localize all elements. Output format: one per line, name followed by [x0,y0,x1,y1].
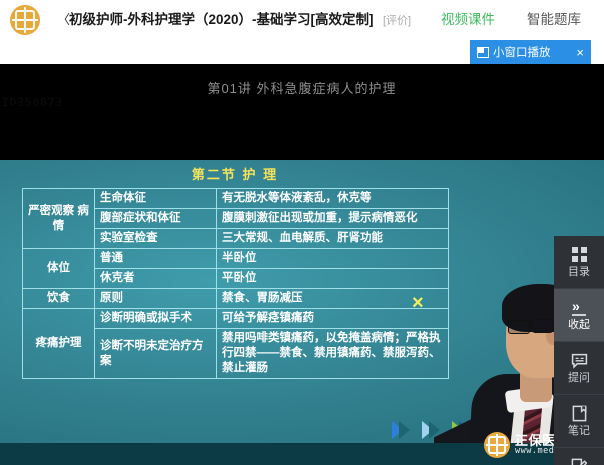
category-cell: 饮食 [23,289,95,309]
item-cell: 生命体征 [95,189,217,209]
video-id-watermark: ID350873 [2,96,63,109]
item-cell: 休克者 [95,269,217,289]
sidebar-item-feedback[interactable]: 反馈 [554,448,604,465]
slide-content: 第二节 护 理 严密观察 病情 生命体征 有无脱水等体液紊乱，休克等 腹部症状和… [0,160,604,465]
grid-icon [572,246,587,263]
item-cell: 诊断不明未定治疗方案 [95,329,217,379]
annotation-x-mark: × [412,293,432,313]
sidebar-item-collapse[interactable]: » 收起 [554,289,604,342]
table-body: 严密观察 病情 生命体征 有无脱水等体液紊乱，休克等 腹部症状和体征 腹膜刺激征… [23,189,449,379]
pip-play-button[interactable]: 小窗口播放 × [470,40,591,64]
edit-pencil-icon [571,458,587,465]
sidebar-item-catalog[interactable]: 目录 [554,236,604,289]
item-cell: 诊断明确或拟手术 [95,309,217,329]
tab-video-courseware[interactable]: 视频课件 [441,10,495,30]
table-row: 严密观察 病情 生命体征 有无脱水等体液紊乱，休克等 [23,189,449,209]
page-header: 〈 初级护师-外科护理学（2020）-基础学习[高效定制] [评价] 视频课件 … [0,0,604,40]
value-cell: 半卧位 [217,249,449,269]
value-cell: 平卧位 [217,269,449,289]
evaluate-link[interactable]: [评价] [383,13,411,29]
close-icon[interactable]: × [574,46,584,59]
sidebar-item-notes[interactable]: 笔记 [554,395,604,448]
note-icon [572,405,587,422]
sidebar-item-label: 收起 [568,319,590,331]
picture-in-picture-icon [477,47,489,58]
table-row: 疼痛护理 诊断明确或拟手术 可给予解痉镇痛药 [23,309,449,329]
sidebar-item-label: 目录 [568,266,590,278]
table-row: 体位 普通 半卧位 [23,249,449,269]
tab-question-bank[interactable]: 智能题库 [527,10,581,30]
value-cell: 有无脱水等体液紊乱，休克等 [217,189,449,209]
sidebar-item-label: 笔记 [568,425,590,437]
instructor-glasses-bridge [529,324,534,326]
speech-bubble-icon [571,352,588,369]
breadcrumb-title[interactable]: 初级护师-外科护理学（2020）-基础学习[高效定制] [69,10,374,30]
site-logo[interactable] [10,5,40,35]
item-cell: 腹部症状和体征 [95,209,217,229]
table-row: 饮食 原则 禁食、胃肠减压 [23,289,449,309]
category-cell: 体位 [23,249,95,289]
sidebar-item-label: 提问 [568,372,590,384]
instructor-glasses-left [508,320,530,334]
value-cell: 腹膜刺激征出现或加重，提示病情恶化 [217,209,449,229]
nursing-care-table: 严密观察 病情 生命体征 有无脱水等体液紊乱，休克等 腹部症状和体征 腹膜刺激征… [22,188,449,379]
course-video-page: 〈 初级护师-外科护理学（2020）-基础学习[高效定制] [评价] 视频课件 … [0,0,604,465]
item-cell: 实验室检查 [95,229,217,249]
slide-title: 第二节 护 理 [0,164,470,183]
logo-ring-shape [15,10,35,30]
item-cell: 原则 [95,289,217,309]
logo-ring-shape [488,436,506,454]
double-chevron-right-icon: » [572,299,586,316]
med66-cross-logo-icon [484,432,510,458]
med66-cross-logo-icon [10,5,40,35]
category-cell: 严密观察 病情 [23,189,95,249]
pip-label: 小窗口播放 [493,44,570,60]
chevron-right-cutout [399,421,410,439]
video-player[interactable]: ID350873 第01讲 外科急腹症病人的护理 第二节 护 理 严密观察 病情… [0,64,604,465]
player-side-toolbar: 目录 » 收起 提问 笔记 [554,236,604,465]
item-cell: 普通 [95,249,217,269]
value-cell: 三大常规、血电解质、肝肾功能 [217,229,449,249]
lecture-title: 第01讲 外科急腹症病人的护理 [0,78,604,97]
category-cell: 疼痛护理 [23,309,95,379]
instructor-glasses-right [532,319,553,333]
sidebar-item-ask[interactable]: 提问 [554,342,604,395]
value-cell: 禁用吗啡类镇痛药，以免掩盖病情；严格执行四禁——禁食、禁用镇痛药、禁服泻药、禁止… [217,329,449,379]
